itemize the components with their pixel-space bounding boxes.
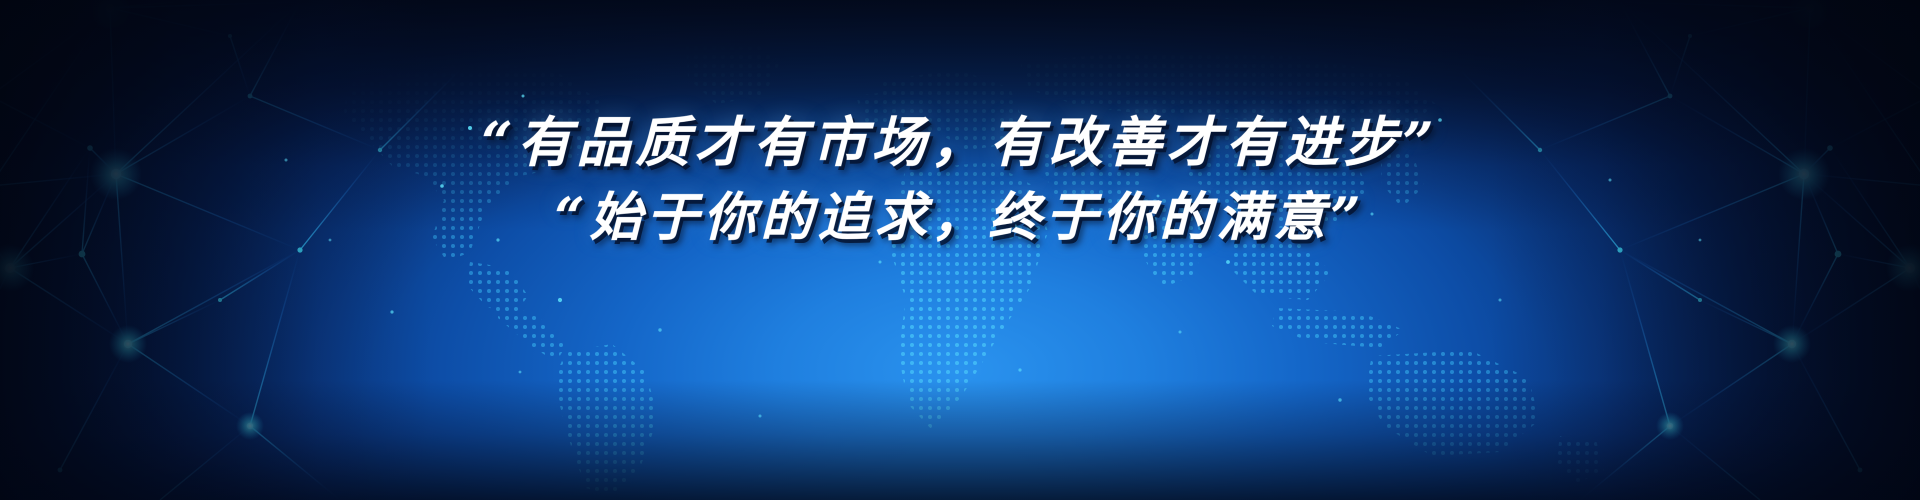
headline-block: “有品质才有市场，有改善才有进步” “始于你的追求，终于你的满意” — [0, 104, 1920, 256]
headline-line-2: “始于你的追求，终于你的满意” — [0, 180, 1920, 256]
hero-banner: “有品质才有市场，有改善才有进步” “始于你的追求，终于你的满意” — [0, 0, 1920, 500]
headline-line-1: “有品质才有市场，有改善才有进步” — [0, 104, 1920, 180]
